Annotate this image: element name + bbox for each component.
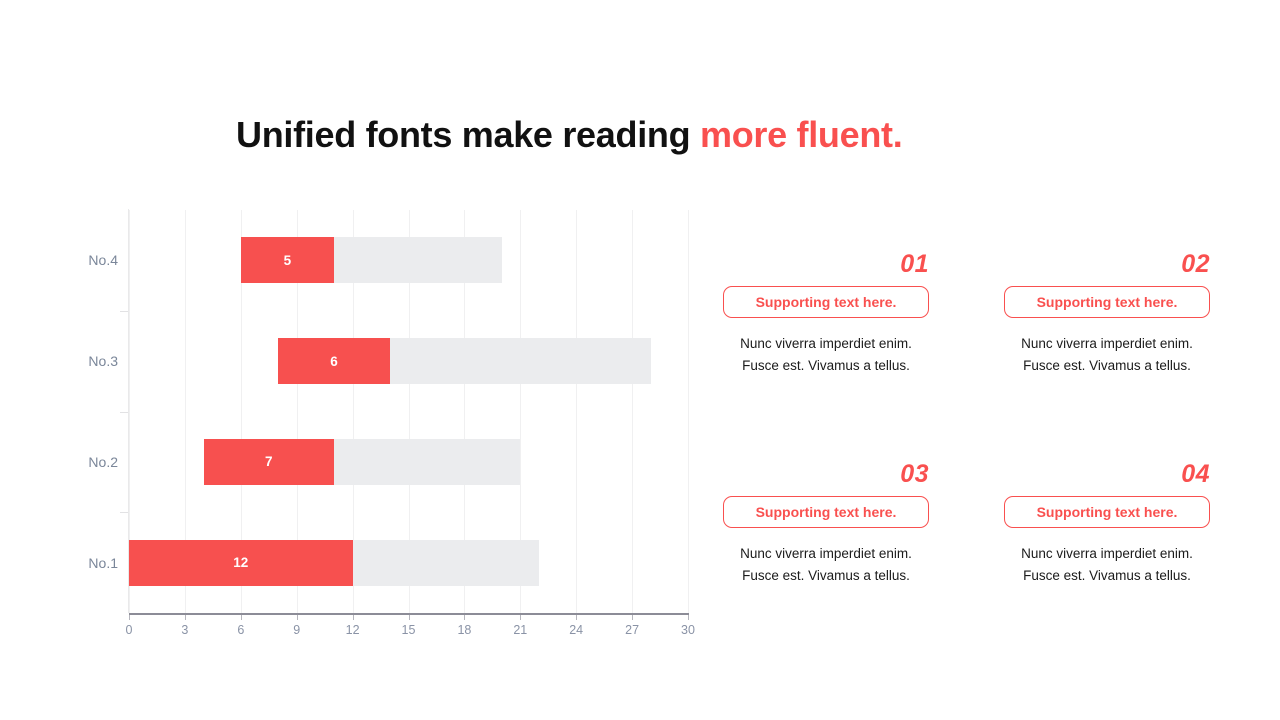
x-tick-label: 6 [237,623,244,637]
card-pill-button[interactable]: Supporting text here. [1004,496,1210,528]
x-tick-label: 15 [402,623,416,637]
chart-gridline [576,210,577,613]
y-tick-mark [120,311,128,312]
card-body-line-1: Nunc viverra imperdiet enim. [1004,333,1210,355]
bar-segment[interactable]: 6 [278,338,390,384]
x-tick-mark [688,615,689,620]
card-body: Nunc viverra imperdiet enim. Fusce est. … [1004,333,1210,377]
card-pill-button[interactable]: Supporting text here. [1004,286,1210,318]
supporting-cards: 01 Supporting text here. Nunc viverra im… [712,252,1232,612]
x-tick-mark [129,615,130,620]
x-tick-mark [576,615,577,620]
card-pill-button[interactable]: Supporting text here. [723,496,929,528]
chart-gridline [688,210,689,613]
x-tick-mark [520,615,521,620]
x-tick-mark [632,615,633,620]
card-pill-label: Supporting text here. [1037,504,1178,520]
y-category-label: No.1 [70,555,118,571]
card-02[interactable]: 02 Supporting text here. Nunc viverra im… [1004,252,1210,377]
bar-value-label: 12 [233,555,248,570]
x-tick-mark [464,615,465,620]
card-body-line-1: Nunc viverra imperdiet enim. [723,333,929,355]
bar-segment[interactable]: 7 [204,439,334,485]
x-tick-label: 9 [293,623,300,637]
x-tick-label: 3 [181,623,188,637]
y-tick-mark [120,512,128,513]
card-body-line-1: Nunc viverra imperdiet enim. [1004,543,1210,565]
card-number: 03 [723,462,929,487]
card-03[interactable]: 03 Supporting text here. Nunc viverra im… [723,462,929,587]
x-tick-mark [353,615,354,620]
card-01[interactable]: 01 Supporting text here. Nunc viverra im… [723,252,929,377]
chart-gridline [632,210,633,613]
page-title-accent: more fluent. [700,114,902,155]
page-title: Unified fonts make reading more fluent. [236,114,902,156]
x-tick-mark [409,615,410,620]
card-body: Nunc viverra imperdiet enim. Fusce est. … [723,333,929,377]
x-tick-mark [241,615,242,620]
y-category-label: No.3 [70,353,118,369]
card-body: Nunc viverra imperdiet enim. Fusce est. … [723,543,929,587]
x-tick-mark [297,615,298,620]
x-tick-mark [185,615,186,620]
x-tick-label: 27 [625,623,639,637]
x-tick-label: 21 [513,623,527,637]
bar-chart: 12765 036912151821242730No.1No.2No.3No.4 [70,205,710,645]
y-category-label: No.4 [70,252,118,268]
x-tick-label: 24 [569,623,583,637]
card-body-line-1: Nunc viverra imperdiet enim. [723,543,929,565]
card-number: 02 [1004,252,1210,277]
x-tick-label: 12 [346,623,360,637]
card-04[interactable]: 04 Supporting text here. Nunc viverra im… [1004,462,1210,587]
card-body: Nunc viverra imperdiet enim. Fusce est. … [1004,543,1210,587]
x-tick-label: 18 [457,623,471,637]
chart-plot-area: 12765 [129,210,688,613]
card-body-line-2: Fusce est. Vivamus a tellus. [723,355,929,377]
card-body-line-2: Fusce est. Vivamus a tellus. [723,565,929,587]
bar-segment[interactable]: 12 [129,540,353,586]
y-category-label: No.2 [70,454,118,470]
card-pill-label: Supporting text here. [756,504,897,520]
bar-value-label: 7 [265,454,273,469]
card-body-line-2: Fusce est. Vivamus a tellus. [1004,355,1210,377]
card-number: 04 [1004,462,1210,487]
card-pill-button[interactable]: Supporting text here. [723,286,929,318]
bar-value-label: 5 [284,253,292,268]
bar-segment[interactable]: 5 [241,237,334,283]
card-number: 01 [723,252,929,277]
y-tick-mark [120,412,128,413]
page-title-plain: Unified fonts make reading [236,114,700,155]
bar-value-label: 6 [330,354,338,369]
x-tick-label: 0 [126,623,133,637]
card-body-line-2: Fusce est. Vivamus a tellus. [1004,565,1210,587]
x-tick-label: 30 [681,623,695,637]
card-pill-label: Supporting text here. [1037,294,1178,310]
card-pill-label: Supporting text here. [756,294,897,310]
